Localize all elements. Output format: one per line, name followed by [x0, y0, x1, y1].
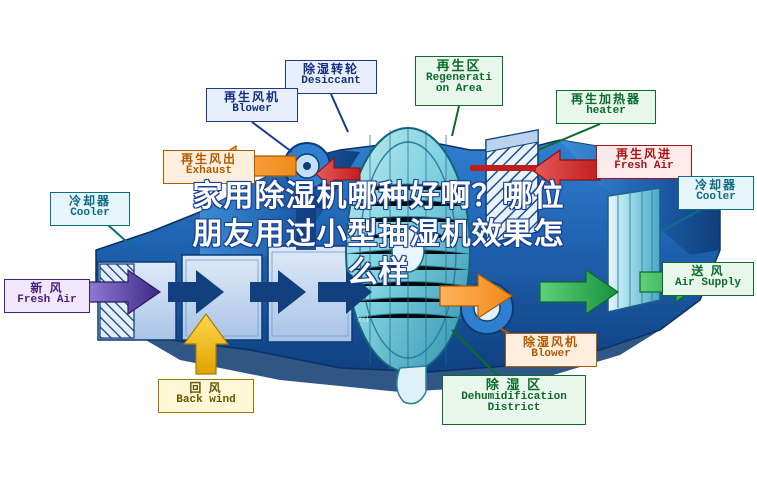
label-cooler-left: 冷却器Cooler — [50, 192, 130, 226]
label-air-supply: 送 风Air Supply — [662, 262, 754, 296]
label-en: Regenerati on Area — [418, 73, 500, 96]
label-en: Cooler — [681, 192, 751, 204]
label-regeneration-area: 再生区Regenerati on Area — [415, 56, 503, 106]
label-dehumidify-blower: 除湿风机Blower — [505, 333, 597, 367]
label-cn: 再生风进 — [599, 148, 689, 161]
label-regeneration-exhaust: 再生风出Exhaust — [163, 150, 255, 184]
label-cn: 再生加热器 — [559, 93, 653, 106]
label-cn: 冷却器 — [53, 195, 127, 208]
label-regeneration-inlet: 再生风进Fresh Air — [596, 145, 692, 179]
label-en: Exhaust — [166, 166, 252, 178]
regeneration-heater-unit — [486, 130, 538, 244]
label-en: Blower — [209, 104, 295, 116]
label-back-wind: 回 风Back wind — [158, 379, 254, 413]
label-en: Air Supply — [665, 278, 751, 290]
label-en: Cooler — [53, 208, 127, 220]
label-cn: 回 风 — [161, 382, 251, 395]
label-en: Desiccant — [288, 76, 374, 88]
label-cn: 除湿转轮 — [288, 63, 374, 76]
label-en: Fresh Air — [599, 161, 689, 173]
label-en: heater — [559, 106, 653, 118]
label-en: Blower — [508, 349, 594, 361]
label-cn: 送 风 — [665, 265, 751, 278]
label-cn: 再生区 — [418, 59, 500, 73]
label-cooler-right: 冷却器Cooler — [678, 176, 754, 210]
label-cn: 再生风机 — [209, 91, 295, 104]
label-fresh-air: 新 风Fresh Air — [4, 279, 90, 313]
label-cn: 再生风出 — [166, 153, 252, 166]
watermark-text: xd — [357, 313, 369, 325]
diagram-canvas: xd 除湿转轮Desiccant再生风机Blower再生区Regenerati … — [0, 0, 757, 488]
label-cn: 新 风 — [7, 282, 87, 295]
label-dehumidification-district: 除 湿 区Dehumidification District — [442, 375, 586, 425]
dehumidifier-schematic: xd — [0, 0, 757, 488]
label-cn: 冷却器 — [681, 179, 751, 192]
label-desiccant-wheel: 除湿转轮Desiccant — [285, 60, 377, 94]
label-cn: 除 湿 区 — [445, 378, 583, 392]
label-en: Dehumidification District — [445, 392, 583, 415]
label-regeneration-heater: 再生加热器heater — [556, 90, 656, 124]
label-cn: 除湿风机 — [508, 336, 594, 349]
label-regeneration-blower: 再生风机Blower — [206, 88, 298, 122]
label-en: Back wind — [161, 395, 251, 407]
label-en: Fresh Air — [7, 295, 87, 307]
